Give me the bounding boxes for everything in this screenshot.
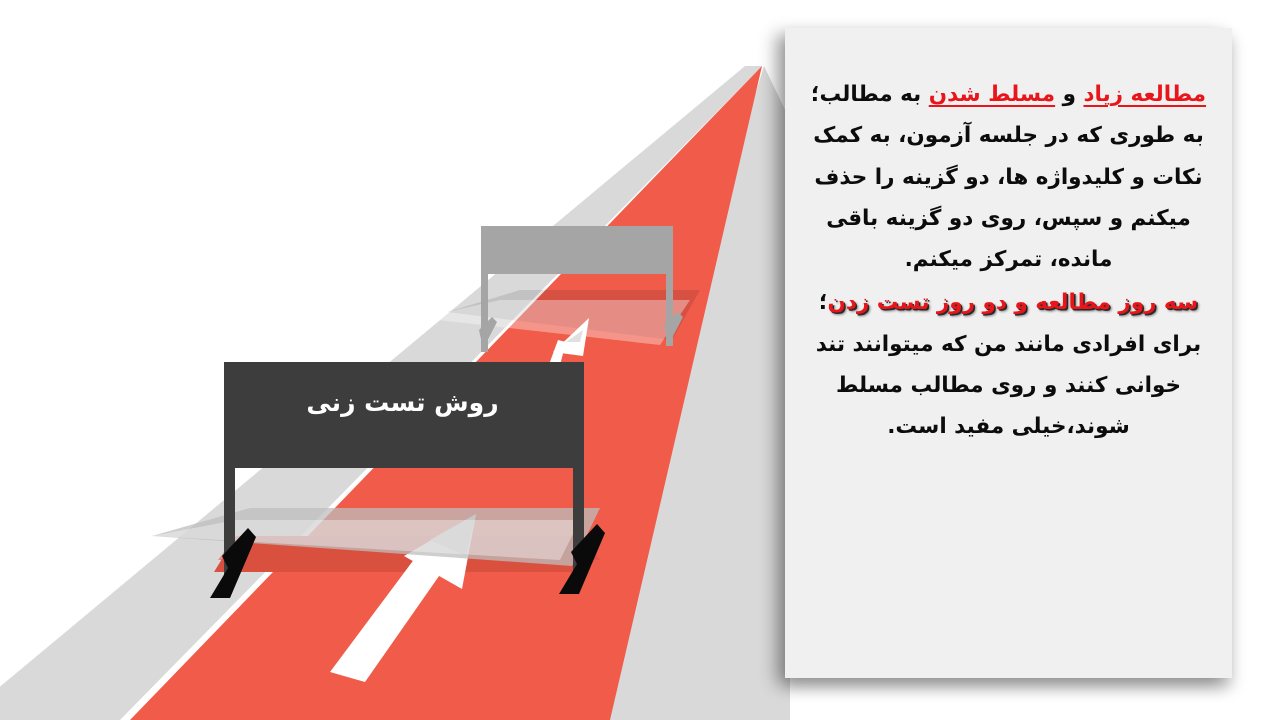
paragraph-1: مطالعه زیاد و مسلط شدن به مطالب؛ به طوری… [809, 74, 1208, 280]
track-illustration: روش تست زنی [0, 0, 790, 720]
paragraph-2-highlight: سه روز مطالعه و دو روز تست زدن [827, 290, 1198, 315]
front-hurdle-board [224, 362, 584, 468]
slide-root: روش تست زنی مطالعه زیاد و مسلط شدن به مط… [0, 0, 1280, 720]
paragraph-1-highlight-1: مطالعه زیاد [1083, 82, 1206, 107]
track-svg [0, 0, 790, 720]
paragraph-2: سه روز مطالعه و دو روز تست زدن؛ برای افر… [809, 282, 1208, 447]
paragraph-1-conjunction: و [1055, 82, 1083, 107]
paragraph-1-highlight-2: مسلط شدن [929, 82, 1055, 107]
paragraph-1-body: به مطالب؛ به طوری که در جلسه آزمون، به ک… [811, 82, 1204, 272]
back-hurdle-board [481, 226, 673, 274]
text-panel: مطالعه زیاد و مسلط شدن به مطالب؛ به طوری… [785, 28, 1232, 678]
text-panel-content: مطالعه زیاد و مسلط شدن به مطالب؛ به طوری… [809, 74, 1208, 447]
